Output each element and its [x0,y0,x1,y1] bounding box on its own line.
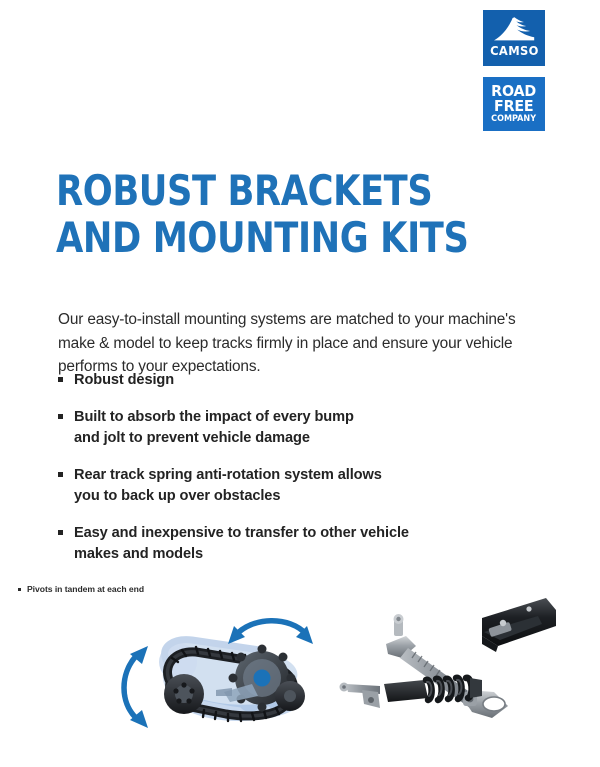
square-bullet-icon [58,530,63,535]
idler-wheel [164,674,204,714]
page-root: CAMSO ROAD FREE COMPANY ROBUST BRACKETS … [0,0,600,767]
page-title-line-2: AND MOUNTING KITS [56,214,451,261]
track-diagram-svg [112,604,337,739]
parts-photo-svg [332,592,557,727]
square-bullet-icon [58,377,63,382]
feature-bullet-list: Robust design Built to absorb the impact… [58,370,528,565]
list-item-label: Built to absorb the impact of every bump… [74,407,528,449]
camso-logo: CAMSO [483,10,545,66]
curved-double-arrow-vertical [124,656,136,718]
list-item-label: Rear track spring anti-rotation system a… [74,465,528,507]
page-title: ROBUST BRACKETS AND MOUNTING KITS [56,167,451,261]
list-item-label: Easy and inexpensive to transfer to othe… [74,523,528,565]
curved-double-arrow-horizontal [235,621,306,636]
page-title-line-1: ROBUST BRACKETS [56,167,451,214]
coil-spring-damper [340,678,483,708]
road-free-company-badge: ROAD FREE COMPANY [483,77,545,131]
footnote: Pivots in tandem at each end [18,584,144,595]
list-item: Built to absorb the impact of every bump… [58,407,528,449]
footnote-label: Pivots in tandem at each end [27,584,144,594]
badge-line-company: COMPANY [492,115,537,124]
rubber-track-pivot-diagram [112,604,337,739]
list-item: Robust design [58,370,528,391]
intro-paragraph: Our easy-to-install mounting systems are… [58,308,528,379]
brand-logo-block: CAMSO ROAD FREE COMPANY [483,10,545,131]
list-item: Rear track spring anti-rotation system a… [58,465,528,507]
square-bullet-icon [18,588,21,591]
mounting-kit-parts-photo [332,592,557,727]
camso-wordmark: CAMSO [490,45,539,58]
black-mounting-bracket [482,598,556,652]
list-item-label: Robust design [74,370,528,391]
square-bullet-icon [58,414,63,419]
camso-chevron-mark [492,16,536,42]
list-item: Easy and inexpensive to transfer to othe… [58,523,528,565]
badge-line-free: FREE [494,99,533,114]
square-bullet-icon [58,472,63,477]
bogie-wheel [275,681,305,711]
